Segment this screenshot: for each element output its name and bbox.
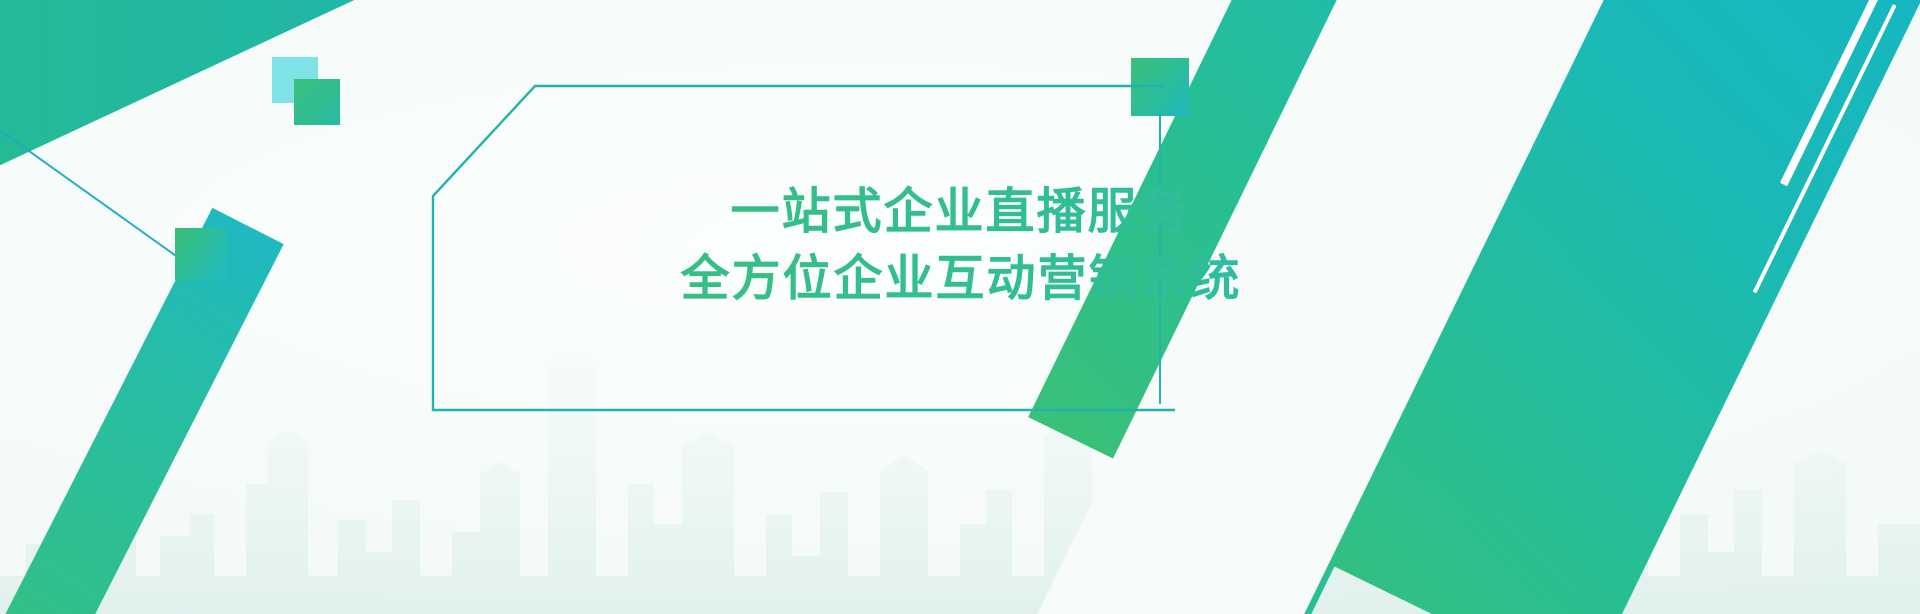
decor-square-left	[175, 228, 227, 280]
hero-banner: 一站式企业直播服务 全方位企业互动营销系统	[0, 0, 1920, 614]
decor-vertical-line	[1159, 112, 1161, 404]
decor-square-top-right	[1131, 58, 1189, 116]
decor-square-green	[294, 79, 340, 125]
